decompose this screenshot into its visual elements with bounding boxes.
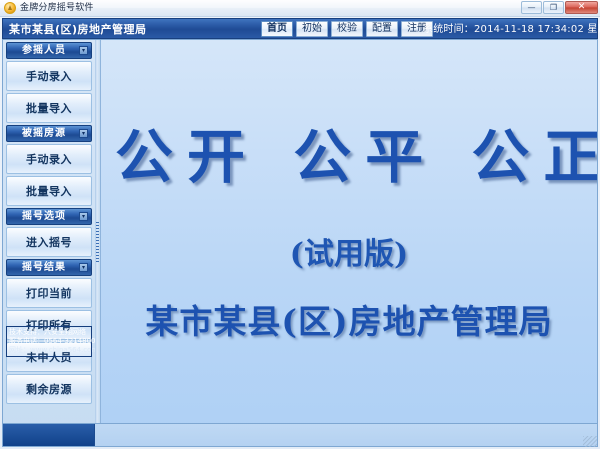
status-bar [2,423,598,447]
toolbar-button-config-label: 配置 [372,24,392,34]
toolbar-button-verify[interactable]: 校验 [331,21,363,37]
application-window: 金牌分房摇号软件 — ❐ ✕ 某市某县(区)房地产管理局 首页 初始 校验 [0,0,600,449]
sidebar-group-header-lottery-results-label: 摇号结果 [22,263,76,273]
support-website-line: 网址：www.china564.com [9,346,89,355]
close-button[interactable]: ✕ [565,1,598,14]
os-window-title: 金牌分房摇号软件 [20,1,94,15]
sidebar-group-header-lottery-options-label: 摇号选项 [22,212,76,222]
sidebar-item-print-current[interactable]: 打印当前 [6,278,92,308]
app-body: 参摇人员 ▾ 手动录入 批量导入 被摇房源 ▾ 手动录入 [2,39,598,444]
sidebar-item-label: 批量导入 [26,103,72,114]
sidebar-item-housing-batch-import[interactable]: 批量导入 [6,176,92,206]
system-time-label: 系统时间：2014-11-18 17:34:02 星期二 [423,22,600,37]
window-resize-grip[interactable] [583,436,597,447]
close-icon: ✕ [566,2,597,13]
sidebar-item-housing-manual-entry[interactable]: 手动录入 [6,144,92,174]
sidebar-item-label: 剩余房源 [26,384,72,395]
splash-slogan: 公开 公平 公正 [101,128,597,186]
os-title-bar: 金牌分房摇号软件 — ❐ ✕ [0,0,600,17]
toolbar-button-init-label: 初始 [302,24,322,34]
sidebar-item-label: 打印当前 [26,288,72,299]
page-title: 某市某县(区)房地产管理局 [3,21,147,37]
splash-version-label: (试用版) [101,240,597,270]
sidebar-group-header-participants-label: 参摇人员 [22,46,76,56]
toolbar-button-verify-label: 校验 [337,24,357,34]
sidebar-item-remaining-housing[interactable]: 剩余房源 [6,374,92,404]
sidebar-group-header-lottery-options[interactable]: 摇号选项 ▾ [6,208,92,225]
chevron-collapse-icon[interactable]: ▾ [79,212,88,221]
app-logo-icon [4,2,16,14]
chevron-collapse-icon[interactable]: ▾ [79,46,88,55]
minimize-button[interactable]: — [521,1,542,14]
main-toolbar: 首页 初始 校验 配置 注册 [261,21,433,37]
app-header-bar: 某市某县(区)房地产管理局 首页 初始 校验 配置 注册 系统时间：2014-1… [2,18,598,39]
minimize-icon: — [522,2,541,13]
support-provider-line: 技术支持：六安全翔网络 [9,328,89,337]
chevron-collapse-icon[interactable]: ▾ [79,129,88,138]
maximize-icon: ❐ [544,2,563,13]
sidebar-item-enter-lottery[interactable]: 进入摇号 [6,227,92,257]
toolbar-button-home[interactable]: 首页 [261,21,293,37]
technical-support-box: 技术支持：六安全翔网络 服务电话：0564-3214800 网址：www.chi… [6,326,92,357]
sidebar-group-participants: 参摇人员 ▾ 手动录入 批量导入 [6,42,92,123]
main-splash-panel: 公开 公平 公正 (试用版) 某市某县(区)房地产管理局 [100,40,597,443]
sidebar-group-housing: 被摇房源 ▾ 手动录入 批量导入 [6,125,92,206]
sidebar-group-lottery-options: 摇号选项 ▾ 进入摇号 [6,208,92,257]
splitter-grip-icon [96,222,99,262]
sidebar-group-header-lottery-results[interactable]: 摇号结果 ▾ [6,259,92,276]
sidebar-group-header-housing[interactable]: 被摇房源 ▾ [6,125,92,142]
status-bar-right-panel [95,424,597,446]
window-controls: — ❐ ✕ [521,1,598,14]
status-bar-left-panel [3,424,95,446]
sidebar-item-label: 批量导入 [26,186,72,197]
sidebar-navigation: 参摇人员 ▾ 手动录入 批量导入 被摇房源 ▾ 手动录入 [3,40,95,443]
sidebar-item-participants-manual-entry[interactable]: 手动录入 [6,61,92,91]
sidebar-item-label: 进入摇号 [26,237,72,248]
chevron-collapse-icon[interactable]: ▾ [79,263,88,272]
sidebar-item-label: 手动录入 [26,71,72,82]
maximize-button[interactable]: ❐ [543,1,564,14]
splash-organization-name: 某市某县(区)房地产管理局 [101,305,597,338]
toolbar-button-home-label: 首页 [267,24,287,34]
sidebar-item-participants-batch-import[interactable]: 批量导入 [6,93,92,123]
toolbar-button-config[interactable]: 配置 [366,21,398,37]
support-phone-line: 服务电话：0564-3214800 [9,337,89,346]
sidebar-group-header-participants[interactable]: 参摇人员 ▾ [6,42,92,59]
toolbar-button-init[interactable]: 初始 [296,21,328,37]
sidebar-group-header-housing-label: 被摇房源 [22,129,76,139]
sidebar-item-label: 手动录入 [26,154,72,165]
